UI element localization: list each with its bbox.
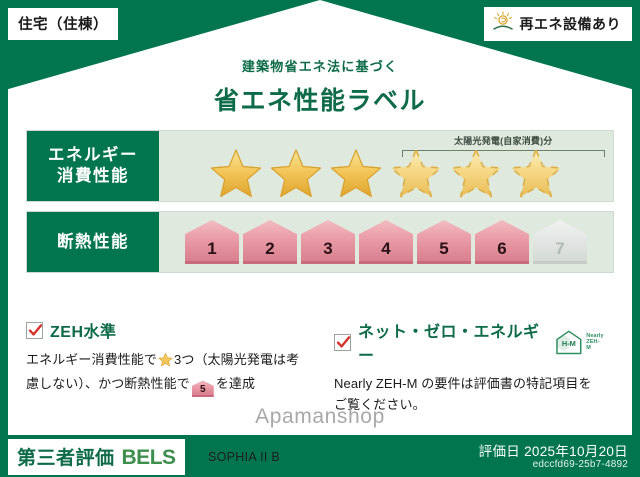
- energy-performance-label: 住宅（住棟） 再エネ設備あり 建築物省エネ法に基づく 省エネ性能ラベル: [0, 0, 640, 477]
- star-rating: [209, 147, 563, 199]
- energy-performance-body: 太陽光発電(自家消費)分: [159, 131, 613, 201]
- zeh-note-header: ZEH水準: [26, 318, 310, 342]
- solar-bracket-label: 太陽光発電(自家消費)分: [400, 134, 607, 147]
- svg-text:H-M: H-M: [561, 338, 575, 347]
- star-icon-filled: [329, 147, 383, 199]
- nze-note-title: ネット・ゼロ・エネルギー: [358, 318, 542, 366]
- energy-label-line1: エネルギー: [48, 145, 138, 166]
- zeh-note-title: ZEH水準: [50, 318, 117, 342]
- insulation-grade-badge-inline: 5: [192, 380, 214, 397]
- insulation-grade-badge: 4: [359, 220, 413, 264]
- net-zero-energy-note: ネット・ゼロ・エネルギー H-M Nearly ZEH-M Nearly ZEH…: [320, 318, 614, 416]
- performance-panel: エネルギー 消費性能 太陽光発電(自家消費)分: [26, 130, 614, 282]
- evaluation-date: 評価日 2025年10月20日: [479, 440, 628, 460]
- insulation-grade-badge: 6: [475, 220, 529, 264]
- checkbox-checked-icon: [334, 334, 351, 351]
- bels-jp-label: 第三者評価: [17, 443, 115, 470]
- notes-section: ZEH水準 エネルギー消費性能で 3つ（太陽光発電は考慮しない）、かつ断熱性能で…: [26, 318, 614, 416]
- nearly-zeh-m-house-logo: H-M Nearly ZEH-M: [554, 329, 604, 356]
- energy-performance-row: エネルギー 消費性能 太陽光発電(自家消費)分: [26, 130, 614, 202]
- star-icon-filled: [269, 147, 323, 199]
- insulation-grade-value: 6: [497, 239, 506, 259]
- energy-label-line2: 消費性能: [57, 166, 129, 187]
- label-subtitle: 建築物省エネ法に基づく: [0, 56, 640, 75]
- insulation-grade-value: 3: [323, 239, 332, 259]
- zeh-standard-note: ZEH水準 エネルギー消費性能で 3つ（太陽光発電は考慮しない）、かつ断熱性能で…: [26, 318, 320, 416]
- zeh-note-text-3: を達成: [216, 376, 255, 391]
- evaluation-id: edccfd69-25b7-4892: [533, 459, 628, 470]
- insulation-grade-badge: 3: [301, 220, 355, 264]
- insulation-performance-row: 断熱性能 1 2 3: [26, 211, 614, 273]
- zeh-m-logo-subtext: Nearly ZEH-M: [586, 333, 604, 352]
- bels-certification-badge: 第三者評価 BELS: [8, 439, 185, 475]
- zeh-note-body: エネルギー消費性能で 3つ（太陽光発電は考慮しない）、かつ断熱性能で 5 を達成: [26, 349, 310, 397]
- insulation-grade-value: 5: [439, 239, 448, 259]
- insulation-grade-value: 7: [555, 239, 564, 259]
- building-name: SOPHIA II B: [208, 450, 280, 464]
- energy-performance-label: エネルギー 消費性能: [27, 131, 159, 201]
- logo-sub-line1: Nearly: [586, 333, 603, 339]
- building-type-chip: 住宅（住棟）: [8, 8, 118, 40]
- insulation-grade-value: 4: [381, 239, 390, 259]
- star-icon-filled: [209, 147, 263, 199]
- inline-grade-value: 5: [200, 384, 206, 395]
- watermark: Apamanshop: [0, 405, 640, 429]
- logo-sub-line2: ZEH-M: [586, 339, 599, 351]
- checkbox-checked-icon: [26, 322, 43, 339]
- insulation-grade-value: 1: [207, 239, 216, 259]
- footer-bar: 第三者評価 BELS SOPHIA II B 評価日 2025年10月20日 e…: [0, 435, 640, 477]
- title-block: 建築物省エネ法に基づく 省エネ性能ラベル: [0, 56, 640, 117]
- building-type-label: 住宅（住棟）: [18, 17, 108, 33]
- renewable-badge-label: 再エネ設備あり: [520, 14, 622, 34]
- star-icon-solar: [509, 147, 563, 199]
- insulation-performance-body: 1 2 3 4 5: [159, 212, 613, 272]
- insulation-performance-label: 断熱性能: [27, 212, 159, 272]
- zeh-note-text-1: エネルギー消費性能で: [26, 352, 157, 367]
- star-icon-solar: [449, 147, 503, 199]
- insulation-grade-scale: 1 2 3 4 5: [185, 220, 587, 264]
- nze-note-header: ネット・ゼロ・エネルギー H-M Nearly ZEH-M: [334, 318, 604, 366]
- insulation-grade-badge: 5: [417, 220, 471, 264]
- insulation-grade-badge-inactive: 7: [533, 220, 587, 264]
- star-icon-solar: [389, 147, 443, 199]
- insulation-grade-badge: 1: [185, 220, 239, 264]
- insulation-grade-value: 2: [265, 239, 274, 259]
- star-icon-inline: [158, 352, 173, 373]
- insulation-label-text: 断熱性能: [57, 232, 129, 253]
- bels-en-label: BELS: [122, 446, 176, 470]
- insulation-grade-badge: 2: [243, 220, 297, 264]
- solar-sun-icon: [492, 11, 514, 36]
- page-title: 省エネ性能ラベル: [0, 81, 640, 117]
- renewable-energy-badge: 再エネ設備あり: [484, 7, 633, 41]
